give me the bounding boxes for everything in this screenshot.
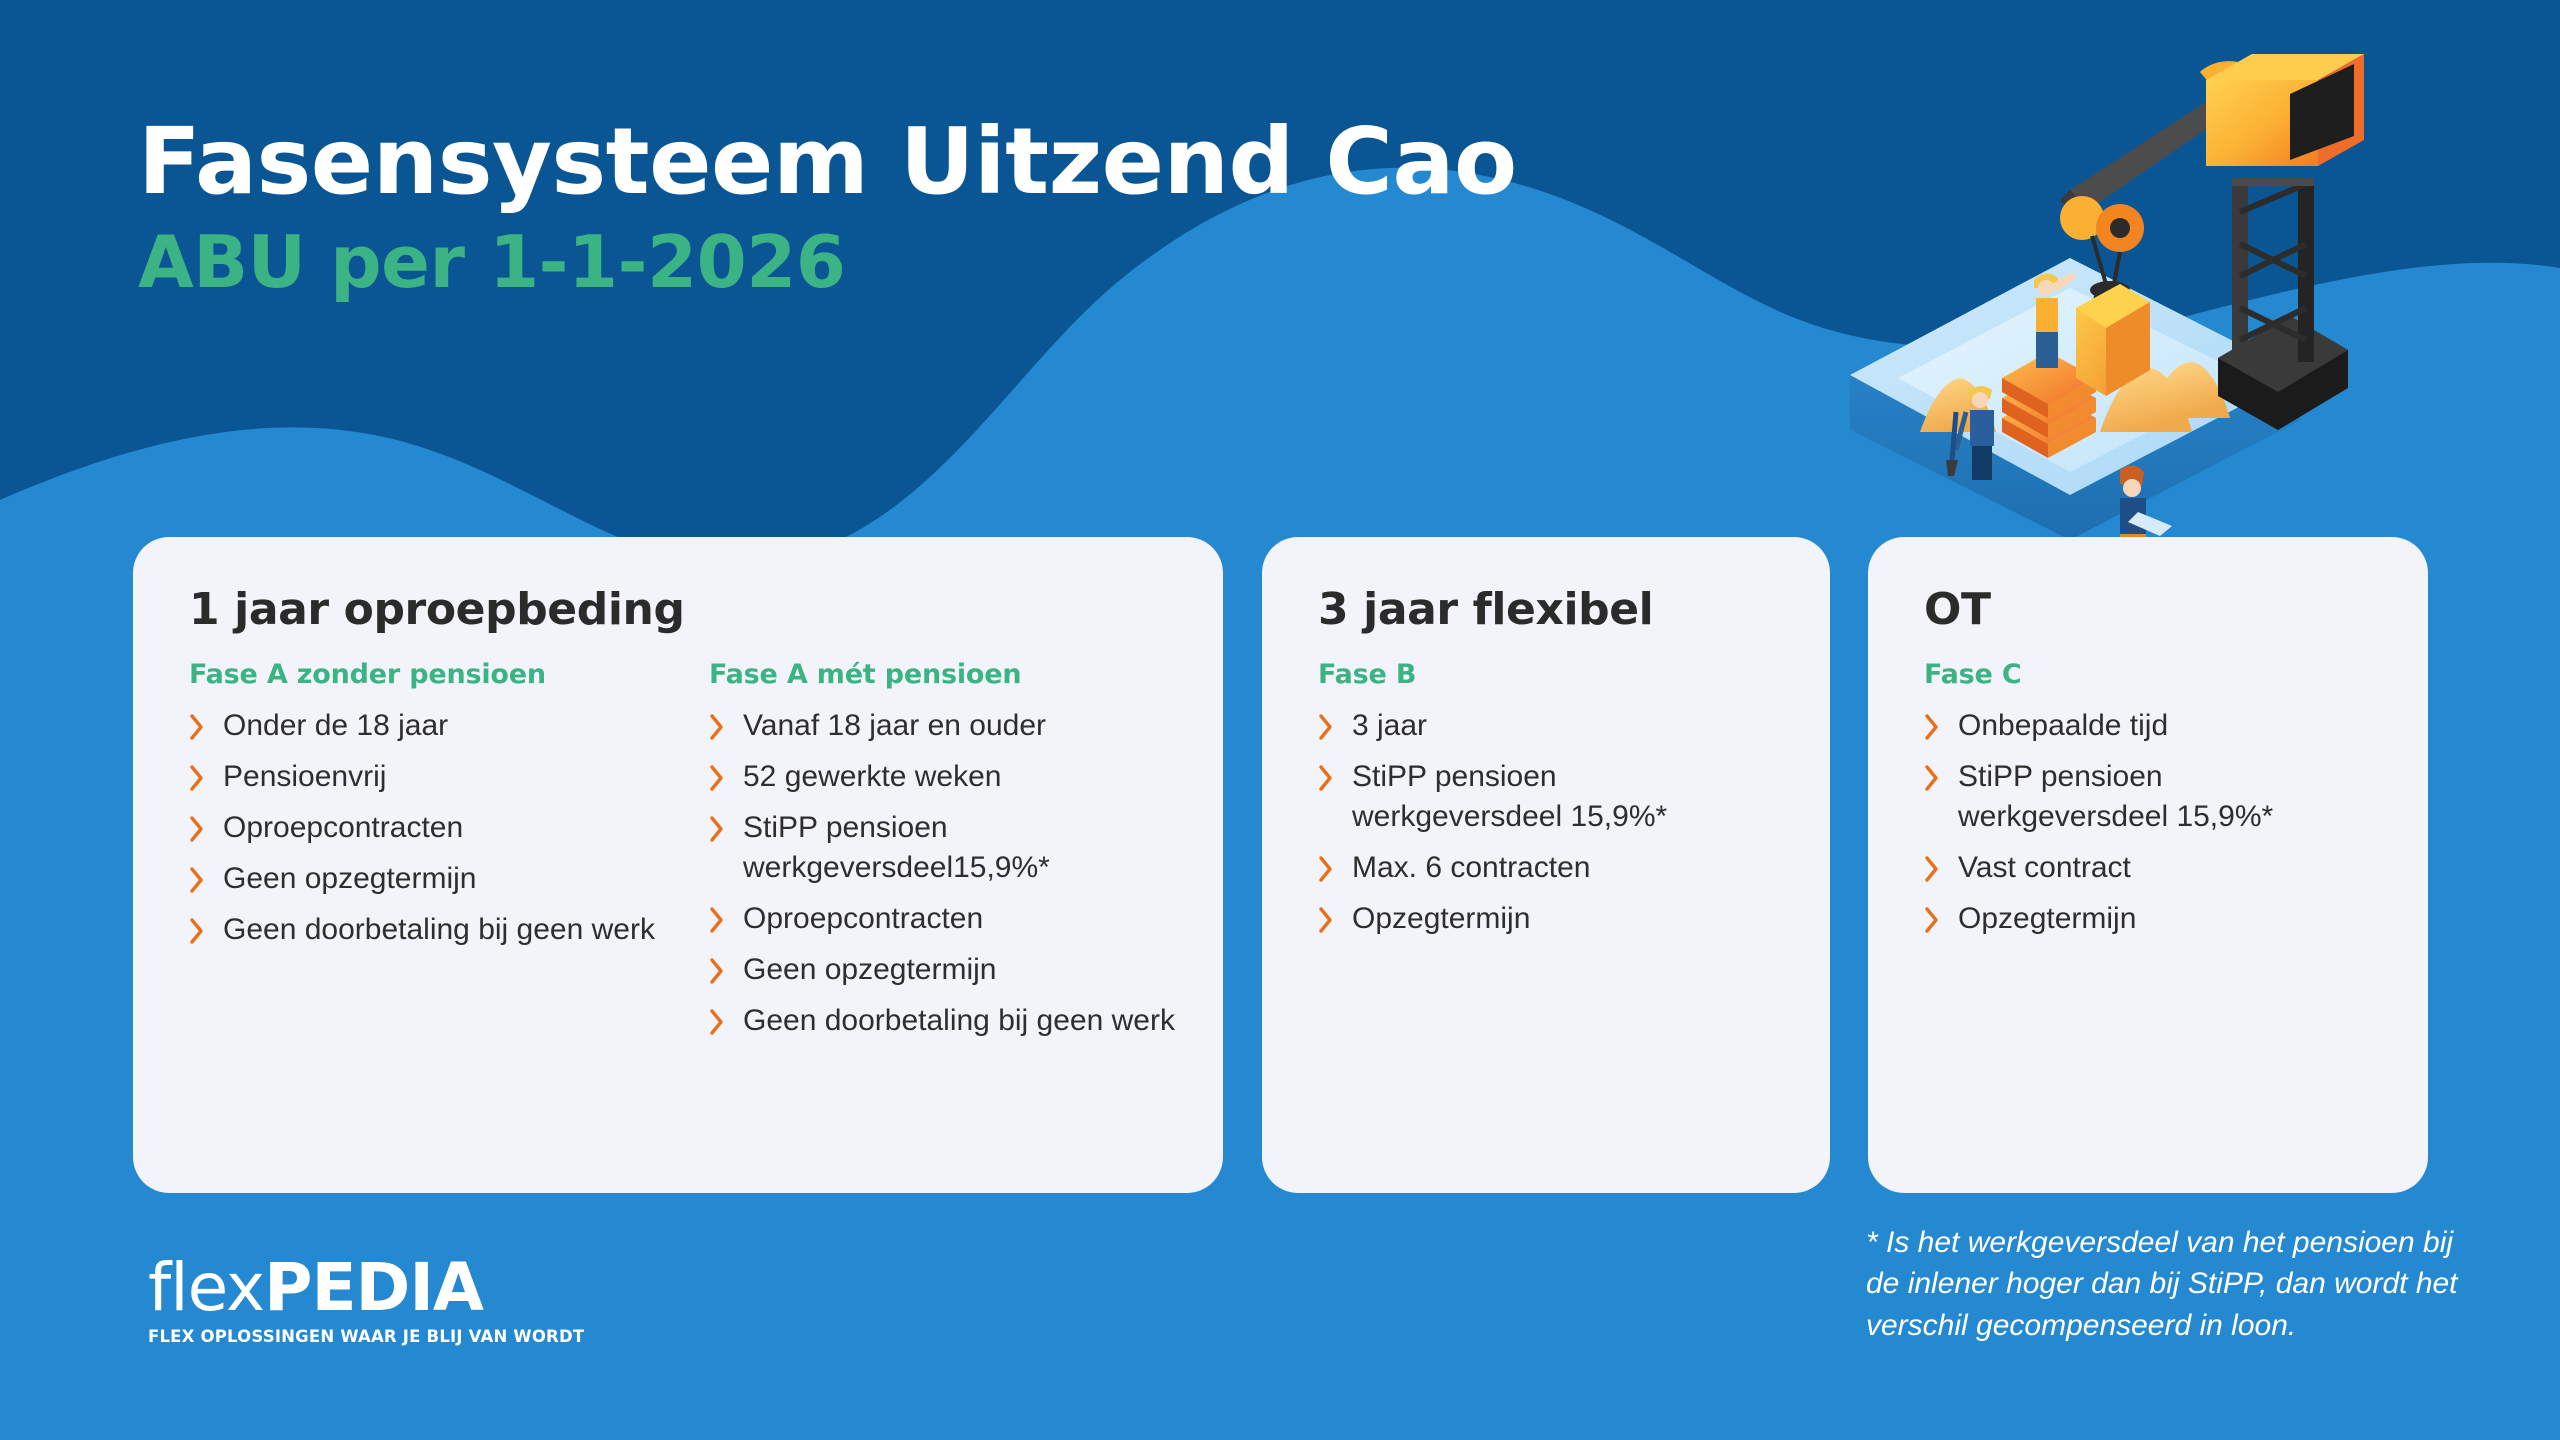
list-item-label: Opzegtermijn xyxy=(1352,899,1530,939)
list-item-label: Pensioenvrij xyxy=(223,757,386,797)
list-item: Geen doorbetaling bij geen werk xyxy=(189,910,709,950)
chevron-right-icon xyxy=(189,710,205,744)
list-item: Onder de 18 jaar xyxy=(189,706,709,746)
crane-cab-and-jib xyxy=(2060,54,2364,332)
list-item-label: Geen opzegtermijn xyxy=(223,859,476,899)
list-item: Opzegtermijn xyxy=(1924,899,2384,939)
page-subtitle: ABU per 1-1-2026 xyxy=(138,226,1517,298)
list-item: StiPP pensioen werkgeversdeel 15,9%* xyxy=(1318,757,1786,837)
list-item: 3 jaar xyxy=(1318,706,1786,746)
chevron-right-icon xyxy=(709,761,725,795)
chevron-right-icon xyxy=(189,863,205,897)
chevron-right-icon xyxy=(709,903,725,937)
card-title: OT xyxy=(1924,587,2384,633)
fase-label: Fase C xyxy=(1924,659,2384,690)
list-item-label: StiPP pensioen werkgeversdeel15,9%* xyxy=(743,808,1213,888)
bullet-list: Onder de 18 jaar Pensioenvrij Oproepcont… xyxy=(189,706,709,949)
chevron-right-icon xyxy=(709,954,725,988)
list-item-label: Vanaf 18 jaar en ouder xyxy=(743,706,1046,746)
construction-crane-illustration xyxy=(1820,40,2420,560)
list-item-label: Geen doorbetaling bij geen werk xyxy=(743,1001,1175,1041)
list-item-label: Oproepcontracten xyxy=(223,808,463,848)
list-item-label: 3 jaar xyxy=(1352,706,1427,746)
chevron-right-icon xyxy=(1924,710,1940,744)
list-item-label: Geen opzegtermijn xyxy=(743,950,996,990)
list-item: Vast contract xyxy=(1924,848,2384,888)
chevron-right-icon xyxy=(189,761,205,795)
list-item: StiPP pensioen werkgeversdeel15,9%* xyxy=(709,808,1229,888)
chevron-right-icon xyxy=(1318,852,1334,886)
bullet-list: Vanaf 18 jaar en ouder 52 gewerkte weken… xyxy=(709,706,1229,1040)
list-item: Vanaf 18 jaar en ouder xyxy=(709,706,1229,746)
list-item: Oproepcontracten xyxy=(189,808,709,848)
card-title: 3 jaar flexibel xyxy=(1318,587,1786,633)
list-item: Geen opzegtermijn xyxy=(709,950,1229,990)
card-inner: 1 jaar oproepbeding Fase A zonder pensio… xyxy=(133,537,1223,1193)
list-item-label: Opzegtermijn xyxy=(1958,899,2136,939)
chevron-right-icon xyxy=(1318,903,1334,937)
list-item: Max. 6 contracten xyxy=(1318,848,1786,888)
column-fase-a-met-pensioen: Fase A mét pensioen Vanaf 18 jaar en oud… xyxy=(709,659,1229,1051)
chevron-right-icon xyxy=(709,812,725,846)
list-item-label: StiPP pensioen werkgeversdeel 15,9%* xyxy=(1352,757,1772,837)
column-fase-c: Fase C Onbepaalde tijd StiPP pensioen we… xyxy=(1924,659,2384,938)
list-item-label: Onder de 18 jaar xyxy=(223,706,448,746)
list-item: StiPP pensioen werkgeversdeel 15,9%* xyxy=(1924,757,2384,837)
fase-label: Fase A mét pensioen xyxy=(709,659,1229,690)
list-item: Onbepaalde tijd xyxy=(1924,706,2384,746)
flexpedia-logo[interactable]: flexPEDIA FLEX OPLOSSINGEN WAAR JE BLIJ … xyxy=(148,1255,493,1346)
list-item-label: Max. 6 contracten xyxy=(1352,848,1590,888)
list-item-label: 52 gewerkte weken xyxy=(743,757,1002,797)
card-fase-c[interactable]: OT Fase C Onbepaalde tijd StiPP pensioen… xyxy=(1868,537,2428,1193)
logo-tagline: FLEX OPLOSSINGEN WAAR JE BLIJ VAN WORDT xyxy=(148,1327,493,1346)
chevron-right-icon xyxy=(1924,852,1940,886)
logo-wordmark: flexPEDIA xyxy=(148,1255,493,1321)
card-fase-a[interactable]: 1 jaar oproepbeding Fase A zonder pensio… xyxy=(133,537,1223,1193)
card-fase-b[interactable]: 3 jaar flexibel Fase B 3 jaar StiPP pens… xyxy=(1262,537,1830,1193)
card-title: 1 jaar oproepbeding xyxy=(189,587,1179,633)
column-fase-b: Fase B 3 jaar StiPP pensioen werkgeversd… xyxy=(1318,659,1786,938)
card-inner: 3 jaar flexibel Fase B 3 jaar StiPP pens… xyxy=(1262,537,1830,1193)
chevron-right-icon xyxy=(189,914,205,948)
list-item-label: Geen doorbetaling bij geen werk xyxy=(223,910,655,950)
list-item: Pensioenvrij xyxy=(189,757,709,797)
chevron-right-icon xyxy=(1318,761,1334,795)
bullet-list: Onbepaalde tijd StiPP pensioen werkgever… xyxy=(1924,706,2384,938)
list-item-label: StiPP pensioen werkgeversdeel 15,9%* xyxy=(1958,757,2378,837)
list-item: 52 gewerkte weken xyxy=(709,757,1229,797)
list-item: Opzegtermijn xyxy=(1318,899,1786,939)
list-item-label: Vast contract xyxy=(1958,848,2131,888)
card-inner: OT Fase C Onbepaalde tijd StiPP pensioen… xyxy=(1868,537,2428,1193)
page-title: Fasensysteem Uitzend Cao xyxy=(138,116,1517,208)
logo-word-part1: flex xyxy=(148,1249,264,1326)
list-item: Geen opzegtermijn xyxy=(189,859,709,899)
list-item: Geen doorbetaling bij geen werk xyxy=(709,1001,1229,1041)
list-item: Oproepcontracten xyxy=(709,899,1229,939)
crane-tower xyxy=(2218,178,2348,430)
chevron-right-icon xyxy=(1924,761,1940,795)
header-block: Fasensysteem Uitzend Cao ABU per 1-1-202… xyxy=(138,116,1517,298)
column-fase-a-zonder-pensioen: Fase A zonder pensioen Onder de 18 jaar … xyxy=(189,659,709,1051)
card-columns: Fase A zonder pensioen Onder de 18 jaar … xyxy=(189,659,1179,1051)
chevron-right-icon xyxy=(709,1005,725,1039)
infographic-canvas: Fasensysteem Uitzend Cao ABU per 1-1-202… xyxy=(0,0,2560,1440)
logo-word-part2: PEDIA xyxy=(264,1249,483,1326)
chevron-right-icon xyxy=(1318,710,1334,744)
list-item-label: Oproepcontracten xyxy=(743,899,983,939)
chevron-right-icon xyxy=(709,710,725,744)
chevron-right-icon xyxy=(189,812,205,846)
fase-label: Fase A zonder pensioen xyxy=(189,659,709,690)
footnote-text: * Is het werkgeversdeel van het pensioen… xyxy=(1866,1222,2476,1346)
list-item-label: Onbepaalde tijd xyxy=(1958,706,2168,746)
bullet-list: 3 jaar StiPP pensioen werkgeversdeel 15,… xyxy=(1318,706,1786,938)
chevron-right-icon xyxy=(1924,903,1940,937)
fase-label: Fase B xyxy=(1318,659,1786,690)
